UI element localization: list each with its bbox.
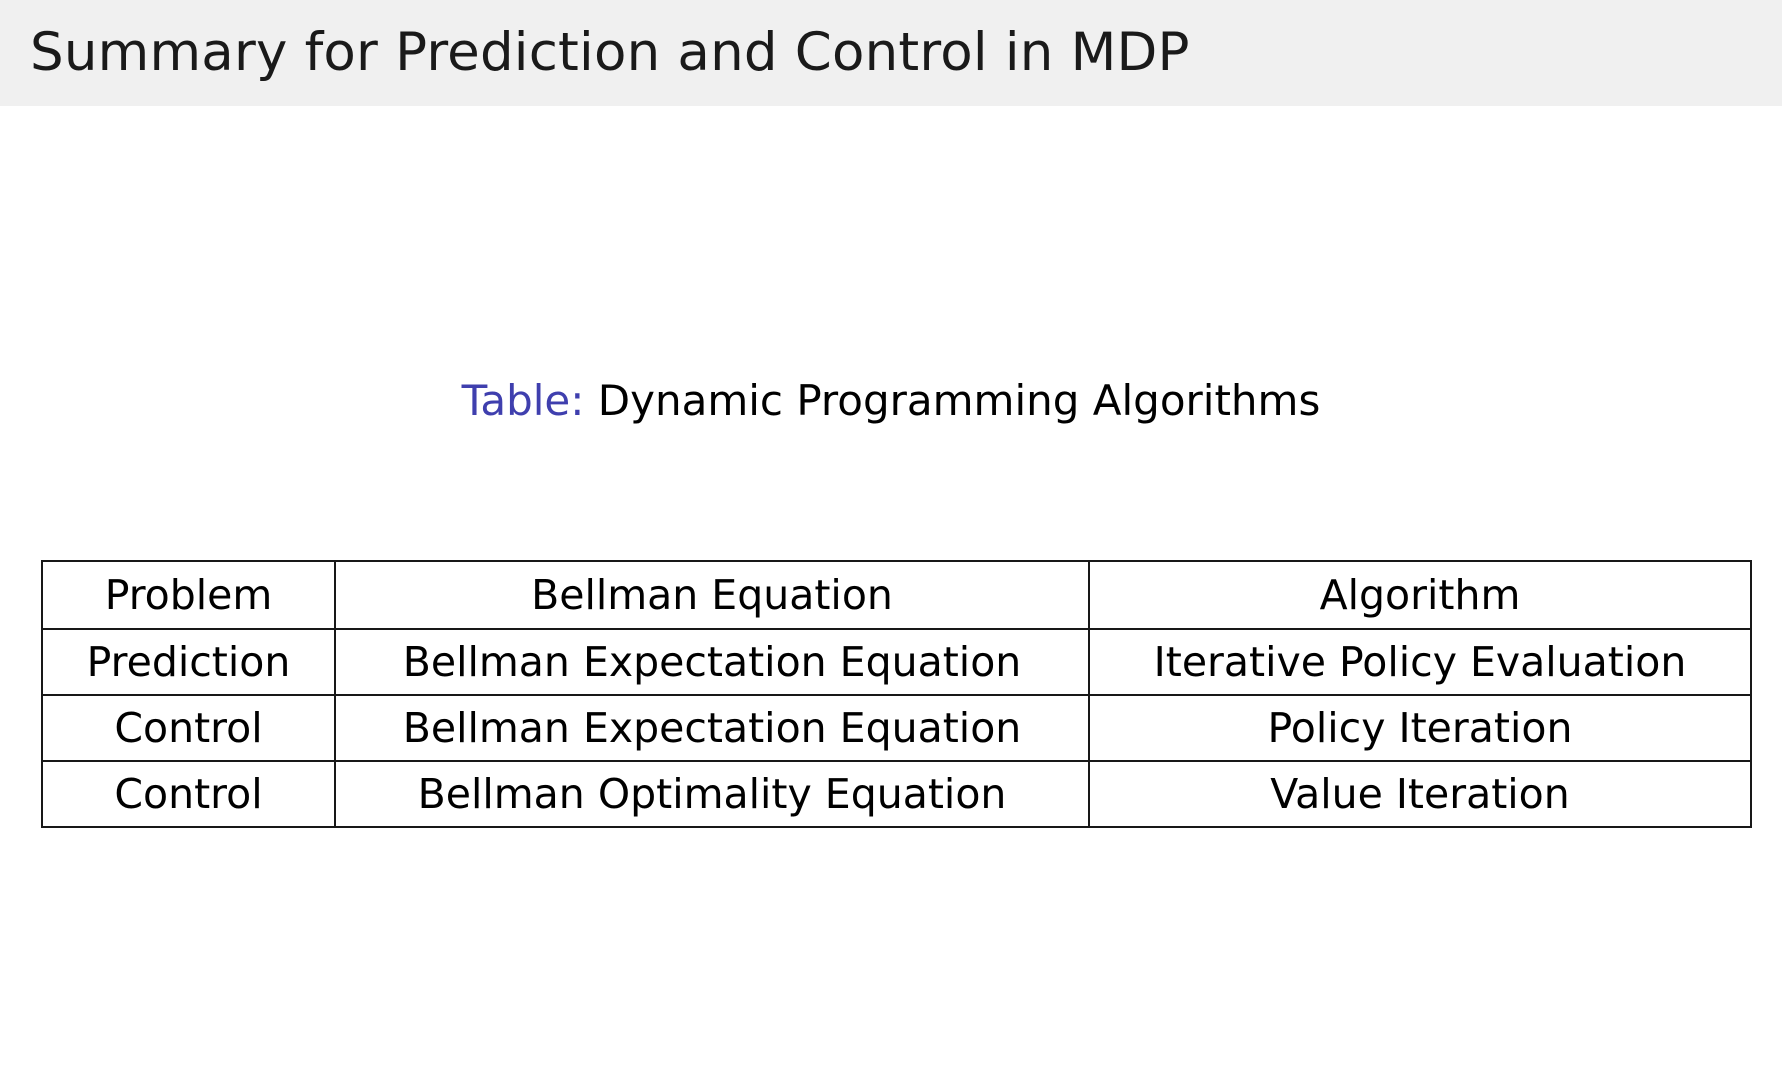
table-row: Control Bellman Expectation Equation Pol… — [42, 695, 1751, 761]
table-caption: Table: Dynamic Programming Algorithms — [0, 106, 1782, 424]
cell-bellman-equation: Bellman Optimality Equation — [335, 761, 1089, 827]
cell-problem: Control — [42, 695, 335, 761]
cell-algorithm: Value Iteration — [1089, 761, 1751, 827]
table-block: Table: Dynamic Programming Algorithms Pr… — [0, 106, 1782, 424]
frame-title-bar: Summary for Prediction and Control in MD… — [0, 0, 1782, 106]
cell-bellman-equation: Bellman Expectation Equation — [335, 695, 1089, 761]
table-row: Prediction Bellman Expectation Equation … — [42, 629, 1751, 695]
table-wrap: Problem Bellman Equation Algorithm Predi… — [41, 560, 1750, 828]
table-header-row: Problem Bellman Equation Algorithm — [42, 561, 1751, 629]
cell-problem: Control — [42, 761, 335, 827]
dynamic-programming-table: Problem Bellman Equation Algorithm Predi… — [41, 560, 1752, 828]
table-caption-text: Dynamic Programming Algorithms — [584, 376, 1320, 425]
cell-problem: Prediction — [42, 629, 335, 695]
page-title: Summary for Prediction and Control in MD… — [30, 25, 1190, 81]
cell-algorithm: Iterative Policy Evaluation — [1089, 629, 1751, 695]
table-caption-label: Table: — [462, 376, 585, 425]
cell-algorithm: Policy Iteration — [1089, 695, 1751, 761]
cell-bellman-equation: Bellman Expectation Equation — [335, 629, 1089, 695]
frame-body: Table: Dynamic Programming Algorithms Pr… — [0, 106, 1782, 1080]
column-header-problem: Problem — [42, 561, 335, 629]
column-header-algorithm: Algorithm — [1089, 561, 1751, 629]
slide: Summary for Prediction and Control in MD… — [0, 0, 1782, 1080]
table-row: Control Bellman Optimality Equation Valu… — [42, 761, 1751, 827]
column-header-bellman-equation: Bellman Equation — [335, 561, 1089, 629]
table-caption-title: Dynamic Programming Algorithms — [598, 376, 1321, 425]
